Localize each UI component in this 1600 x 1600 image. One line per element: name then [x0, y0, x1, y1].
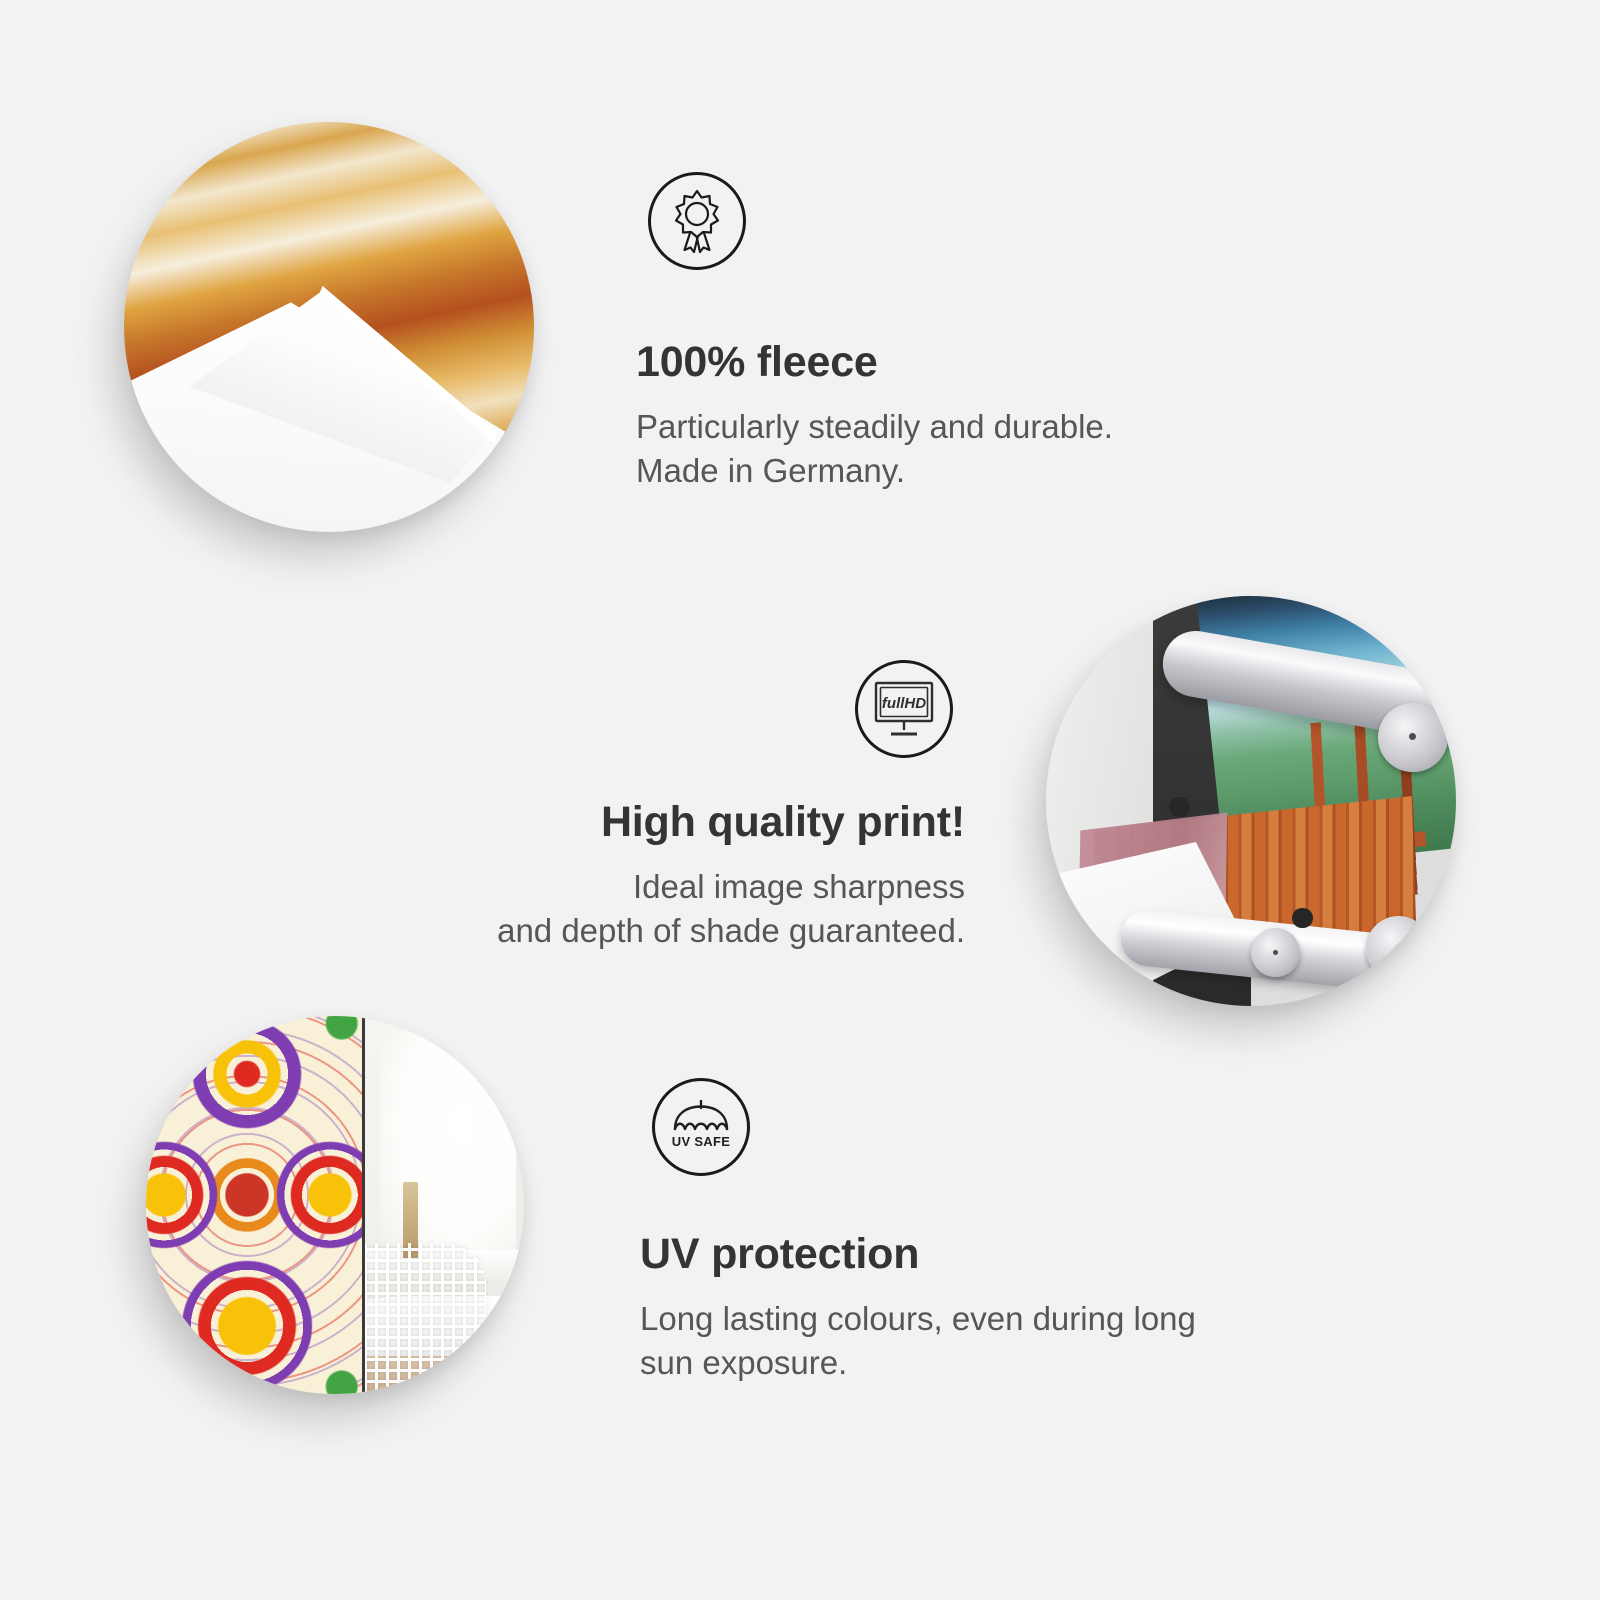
photo-inner	[1046, 596, 1456, 1006]
mandala-pattern	[146, 1016, 365, 1394]
uv-safe-icon-label: UV SAFE	[672, 1134, 730, 1149]
feature-block-fleece: 100% fleece Particularly steadily and du…	[636, 340, 1256, 492]
fullhd-icon-label: fullHD	[882, 695, 926, 712]
printer-knob	[1169, 797, 1190, 818]
feature-heading-uv: UV protection	[640, 1232, 1320, 1277]
interior-window	[380, 1031, 516, 1265]
feature-heading-print: High quality print!	[345, 800, 965, 845]
feature-body-print: Ideal image sharpness and depth of shade…	[345, 865, 965, 952]
feature-body-uv: Long lasting colours, even during long s…	[640, 1297, 1320, 1384]
fullhd-monitor-icon: fullHD	[855, 660, 953, 758]
feature-body-fleece: Particularly steadily and durable. Made …	[636, 405, 1256, 492]
award-ribbon-icon	[648, 172, 746, 270]
peeling-fleece-wallpaper-photo	[124, 122, 534, 532]
photo-inner	[124, 122, 534, 532]
feature-block-uv: UV protection Long lasting colours, even…	[640, 1232, 1320, 1384]
printer-knob	[1292, 908, 1313, 929]
feature-block-print: High quality print! Ideal image sharpnes…	[345, 800, 965, 952]
printer-roller-cap	[1378, 703, 1448, 773]
feature-infographic: 100% fleece Particularly steadily and du…	[0, 0, 1600, 1600]
large-format-printer-photo	[1046, 596, 1456, 1006]
photo-inner	[146, 1016, 524, 1394]
uv-safe-umbrella-icon: UV SAFE	[652, 1078, 750, 1176]
mandala-wallpaper-interior-photo	[146, 1016, 524, 1394]
feature-heading-fleece: 100% fleece	[636, 340, 1256, 385]
mandala-wallpaper-panel	[146, 1016, 365, 1394]
